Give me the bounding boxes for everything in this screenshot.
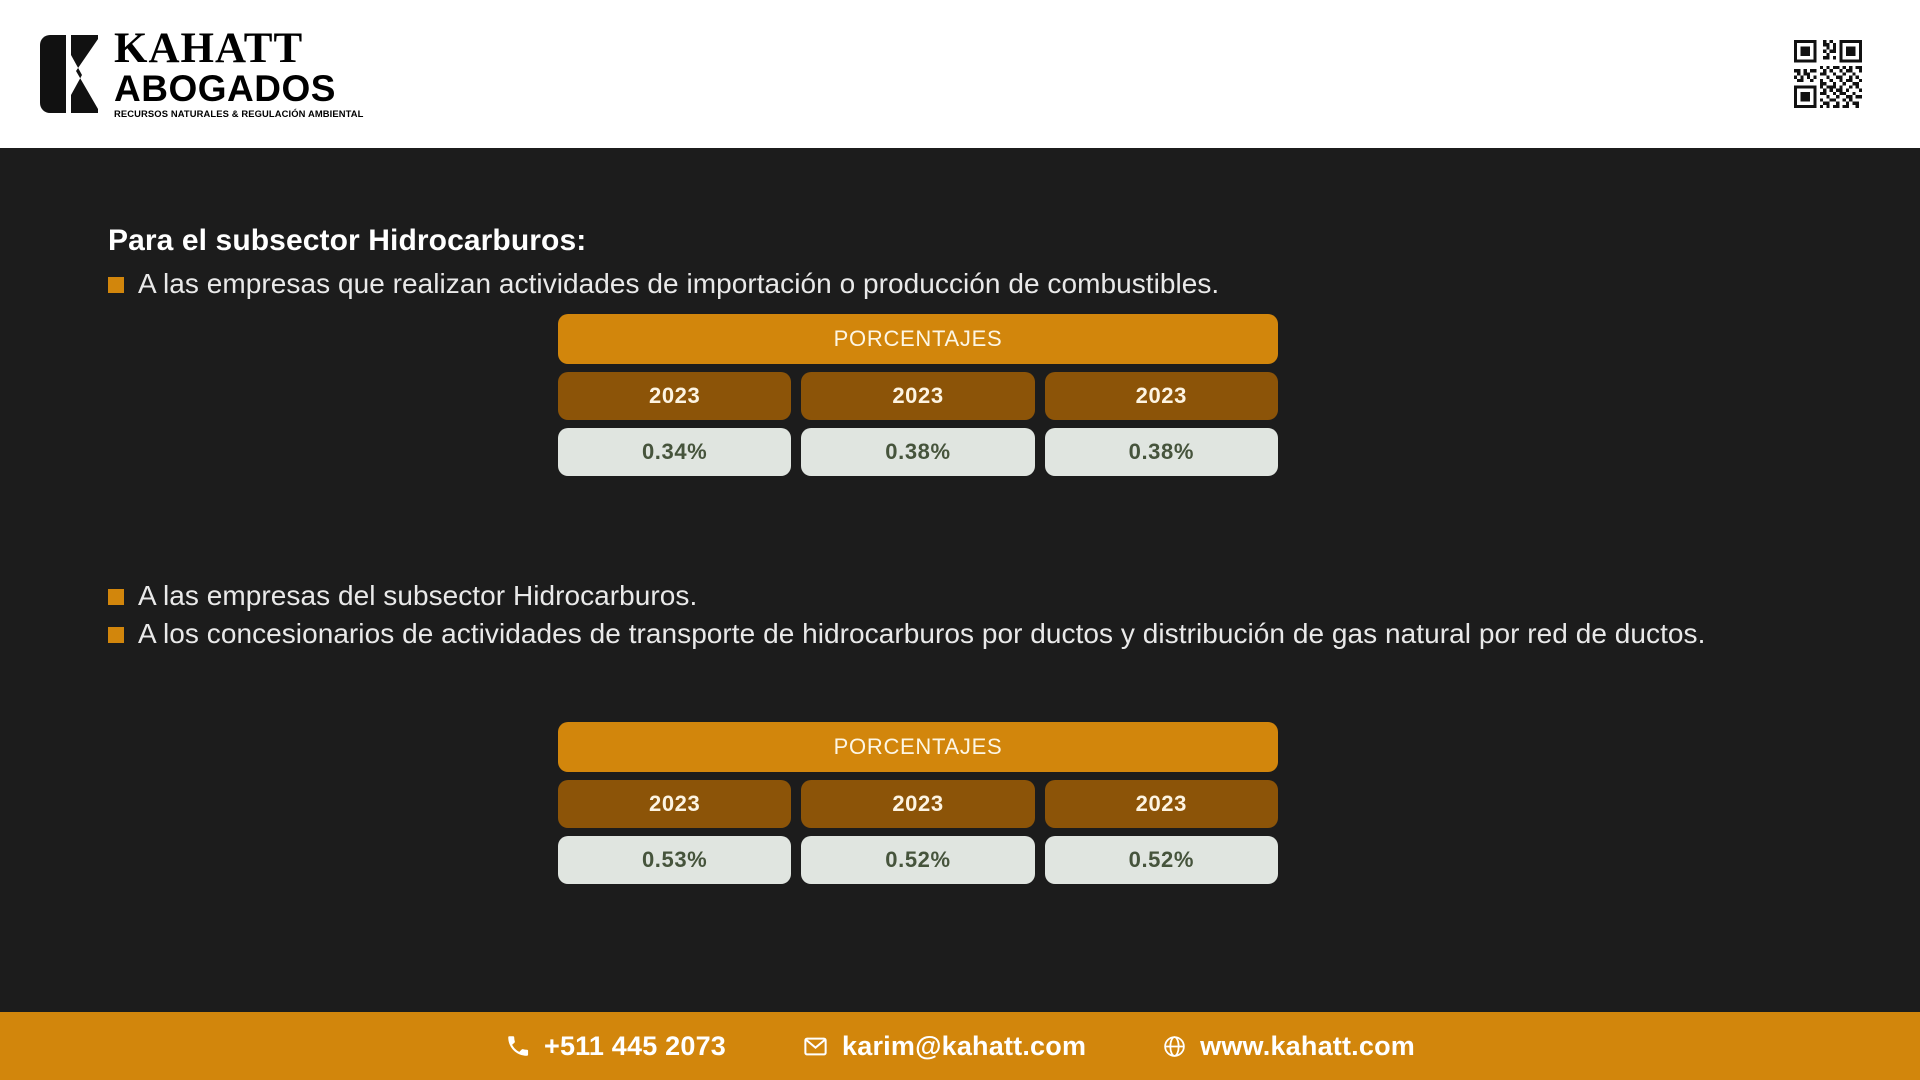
year-cell: 2023 <box>801 372 1034 420</box>
percentages-table-2: PORCENTAJES 2023 2023 2023 0.53% 0.52% 0… <box>558 722 1278 884</box>
list-item-label: A las empresas del subsector Hidrocarbur… <box>138 578 697 613</box>
footer-email-label: karim@kahatt.com <box>842 1031 1086 1062</box>
footer-email[interactable]: karim@kahatt.com <box>802 1031 1086 1062</box>
list-item: A las empresas que realizan actividades … <box>108 266 1668 301</box>
k-monogram-icon <box>38 35 100 113</box>
list-item-label: A las empresas que realizan actividades … <box>138 266 1219 301</box>
percentage-cell: 0.38% <box>801 428 1034 476</box>
table-header-porcentajes: PORCENTAJES <box>558 722 1278 772</box>
list-item: A las empresas del subsector Hidrocarbur… <box>108 578 1668 613</box>
slide-header: KAHATT ABOGADOS Recursos Naturales & Reg… <box>0 0 1920 148</box>
footer-phone[interactable]: +511 445 2073 <box>505 1031 726 1062</box>
percentage-cell: 0.34% <box>558 428 791 476</box>
year-cell: 2023 <box>558 780 791 828</box>
list-item: A los concesionarios de actividades de t… <box>108 616 1788 651</box>
brand-logo: KAHATT ABOGADOS Recursos Naturales & Reg… <box>38 28 364 119</box>
logo-line-kahatt: KAHATT <box>114 28 364 69</box>
table-row-values: 0.34% 0.38% 0.38% <box>558 428 1278 476</box>
list-item-label: A los concesionarios de actividades de t… <box>138 616 1705 651</box>
percentages-table-1: PORCENTAJES 2023 2023 2023 0.34% 0.38% 0… <box>558 314 1278 476</box>
square-bullet-icon <box>108 589 124 605</box>
logo-tagline: Recursos Naturales & Regulación Ambienta… <box>114 108 364 120</box>
footer-phone-label: +511 445 2073 <box>544 1031 726 1062</box>
table-row-years: 2023 2023 2023 <box>558 780 1278 828</box>
table-row-years: 2023 2023 2023 <box>558 372 1278 420</box>
table-row-values: 0.53% 0.52% 0.52% <box>558 836 1278 884</box>
qr-code-icon[interactable] <box>1794 40 1862 108</box>
table-header-porcentajes: PORCENTAJES <box>558 314 1278 364</box>
percentage-cell: 0.38% <box>1045 428 1278 476</box>
year-cell: 2023 <box>1045 372 1278 420</box>
logo-wordmark: KAHATT ABOGADOS Recursos Naturales & Reg… <box>114 28 364 119</box>
percentage-cell: 0.53% <box>558 836 791 884</box>
footer-website-label: www.kahatt.com <box>1200 1031 1415 1062</box>
phone-icon <box>505 1033 531 1059</box>
footer-website[interactable]: www.kahatt.com <box>1162 1031 1415 1062</box>
globe-icon <box>1162 1034 1187 1059</box>
percentage-cell: 0.52% <box>1045 836 1278 884</box>
contact-footer: +511 445 2073 karim@kahatt.com www.kahat… <box>0 1012 1920 1080</box>
page-title: Para el subsector Hidrocarburos: <box>108 224 586 258</box>
envelope-icon <box>802 1033 829 1060</box>
year-cell: 2023 <box>558 372 791 420</box>
year-cell: 2023 <box>801 780 1034 828</box>
year-cell: 2023 <box>1045 780 1278 828</box>
square-bullet-icon <box>108 627 124 643</box>
slide-content: Para el subsector Hidrocarburos: A las e… <box>0 148 1920 1012</box>
logo-line-abogados: ABOGADOS <box>114 70 364 107</box>
percentage-cell: 0.52% <box>801 836 1034 884</box>
square-bullet-icon <box>108 277 124 293</box>
